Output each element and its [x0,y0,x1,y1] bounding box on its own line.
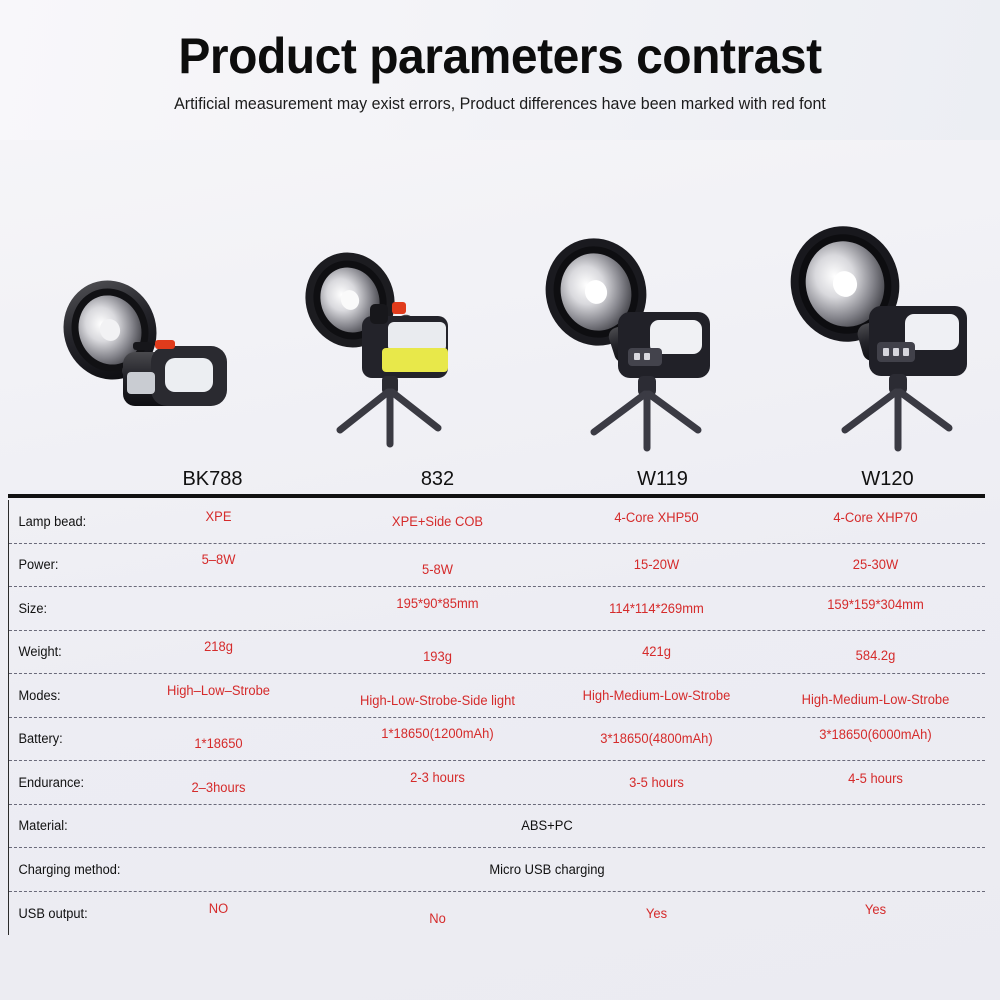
cell-usb-output-w119: Yes [551,906,761,921]
product-image-w119 [500,150,750,460]
table-row: Modes: High–Low–Strobe High-Low-Strobe-S… [9,674,985,718]
cell-weight-832: 193g [332,649,542,664]
cell-endurance-w120: 4-5 hours [770,771,980,786]
spotlight-tripod-large-icon [765,210,985,460]
cell-power-w119: 15-20W [551,557,761,572]
row-label-power: Power: [9,557,104,572]
spotlight-tripod-icon [518,220,733,460]
name-row-spacer [0,462,100,498]
cell-lamp-bead-832: XPE+Side COB [332,514,542,529]
product-image-strip [0,150,1000,460]
table-row: Battery: 1*18650 1*18650(1200mAh) 3*1865… [9,718,985,762]
table-row: Charging method: Micro USB charging [9,848,985,892]
spec-table: Lamp bead: XPE XPE+Side COB 4-Core XHP50… [8,500,985,935]
cell-modes-832: High-Low-Strobe-Side light [332,693,542,708]
cell-endurance-832: 2-3 hours [332,770,542,785]
row-label-size: Size: [9,601,104,616]
row-label-modes: Modes: [9,688,104,703]
cell-modes-w120: High-Medium-Low-Strobe [770,692,980,707]
row-label-endurance: Endurance: [9,775,104,790]
cell-usb-output-832: No [332,911,542,926]
cell-battery-w119: 3*18650(4800mAh) [551,731,761,746]
product-name-w120: W120 [775,462,1000,498]
cell-power-w120: 25-30W [770,557,980,572]
product-name-row: BK788 832 W119 W120 [0,462,1000,498]
product-image-w120 [750,150,1000,460]
row-label-lamp-bead: Lamp bead: [9,514,104,529]
cell-modes-bk788: High–Low–Strobe [113,683,323,698]
product-image-832 [250,150,500,460]
spotlight-tripod-cob-icon [270,230,480,460]
product-name-bk788: BK788 [100,462,325,498]
row-label-charging-method: Charging method: [9,862,104,877]
spotlight-handheld-icon [15,260,235,460]
cell-battery-832: 1*18650(1200mAh) [332,726,542,741]
table-row: Weight: 218g 193g 421g 584.2g [9,631,985,675]
cell-lamp-bead-w119: 4-Core XHP50 [551,510,761,525]
cell-endurance-bk788: 2–3hours [113,780,323,795]
cell-weight-w119: 421g [551,644,761,659]
row-label-weight: Weight: [9,644,104,659]
comparison-page: Product parameters contrast Artificial m… [0,0,1000,1000]
table-row: Material: ABS+PC [9,805,985,849]
product-name-w119: W119 [550,462,775,498]
page-header: Product parameters contrast Artificial m… [0,0,1000,140]
product-name-832: 832 [325,462,550,498]
cell-size-w119: 114*114*269mm [551,601,761,616]
page-subtitle: Artificial measurement may exist errors,… [15,95,985,114]
table-row: USB output: NO No Yes Yes [9,892,985,936]
cell-lamp-bead-w120: 4-Core XHP70 [770,510,980,525]
cell-endurance-w119: 3-5 hours [551,775,761,790]
cell-material-shared: ABS+PC [127,818,968,833]
product-image-bk788 [0,150,250,460]
page-title: Product parameters contrast [20,0,980,83]
cell-usb-output-w120: Yes [770,902,980,917]
cell-battery-bk788: 1*18650 [113,736,323,751]
row-label-usb-output: USB output: [9,906,104,921]
cell-weight-bk788: 218g [113,639,323,654]
cell-usb-output-bk788: NO [113,901,323,916]
row-label-material: Material: [9,818,104,833]
cell-lamp-bead-bk788: XPE [113,509,323,524]
cell-size-w120: 159*159*304mm [770,597,980,612]
table-row: Size: 195*90*85mm 114*114*269mm 159*159*… [9,587,985,631]
cell-modes-w119: High-Medium-Low-Strobe [551,688,761,703]
cell-size-832: 195*90*85mm [332,596,542,611]
row-label-battery: Battery: [9,731,104,746]
cell-battery-w120: 3*18650(6000mAh) [770,727,980,742]
cell-power-832: 5-8W [332,562,542,577]
cell-weight-w120: 584.2g [770,648,980,663]
table-row: Endurance: 2–3hours 2-3 hours 3-5 hours … [9,761,985,805]
cell-charging-method-shared: Micro USB charging [127,862,968,877]
cell-power-bk788: 5–8W [113,552,323,567]
table-row: Power: 5–8W 5-8W 15-20W 25-30W [9,544,985,588]
table-row: Lamp bead: XPE XPE+Side COB 4-Core XHP50… [9,500,985,544]
